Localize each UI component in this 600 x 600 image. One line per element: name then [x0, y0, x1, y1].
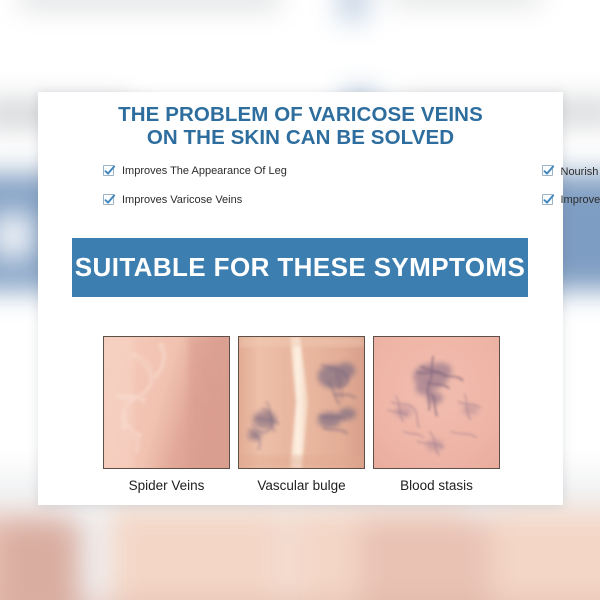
checklist-item-label: Improves Spider Veins [561, 194, 600, 206]
checklist-item-label: Nourish， Soothe， Moisturize Skin [561, 163, 600, 179]
page-title: THE PROBLEM OF VARICOSE VEINS ON THE SKI… [38, 103, 563, 149]
symptoms-banner: SUITABLE FOR THESE SYMPTOMS [72, 238, 528, 297]
gallery-item-caption: Spider Veins [103, 478, 230, 493]
symptoms-banner-label: SUITABLE FOR THESE SYMPTOMS [75, 252, 525, 283]
checklist-column-left: Improves The Appearance Of Leg Improves … [38, 156, 301, 214]
checklist-item[interactable]: Nourish， Soothe， Moisturize Skin [542, 156, 564, 185]
gallery-item-caption: Blood stasis [373, 478, 500, 493]
gallery-item-caption: Vascular bulge [238, 478, 365, 493]
headline-line-2: ON THE SKIN CAN BE SOLVED [38, 126, 563, 149]
checklist-item-label: Improves The Appearance Of Leg [122, 165, 287, 177]
leg-skin-bulging-veins-photo [103, 336, 230, 469]
checkbox-checked-icon[interactable] [103, 194, 114, 205]
checklist-item[interactable]: Improves The Appearance Of Leg [103, 156, 301, 185]
checklist-item-label: Improves Varicose Veins [122, 194, 242, 206]
checkbox-checked-icon[interactable] [542, 165, 553, 176]
checklist-column-right: Nourish， Soothe， Moisturize Skin Improve… [301, 156, 564, 214]
gallery-item: Vascular bulge [238, 336, 365, 493]
two-legs-vascular-bulge-photo [238, 336, 365, 469]
symptom-gallery: Spider Veins [103, 336, 500, 493]
gallery-item: Spider Veins [103, 336, 230, 493]
content-card: THE PROBLEM OF VARICOSE VEINS ON THE SKI… [38, 92, 563, 505]
checkbox-checked-icon[interactable] [542, 194, 553, 205]
checklist-item[interactable]: Improves Varicose Veins [103, 185, 301, 214]
checkbox-checked-icon[interactable] [103, 165, 114, 176]
skin-blood-stasis-spider-cluster-photo [373, 336, 500, 469]
checklist-item[interactable]: Improves Spider Veins [542, 185, 564, 214]
headline-line-1: THE PROBLEM OF VARICOSE VEINS [118, 103, 483, 126]
benefits-checklist: Improves The Appearance Of Leg Improves … [38, 156, 563, 214]
gallery-item: Blood stasis [373, 336, 500, 493]
